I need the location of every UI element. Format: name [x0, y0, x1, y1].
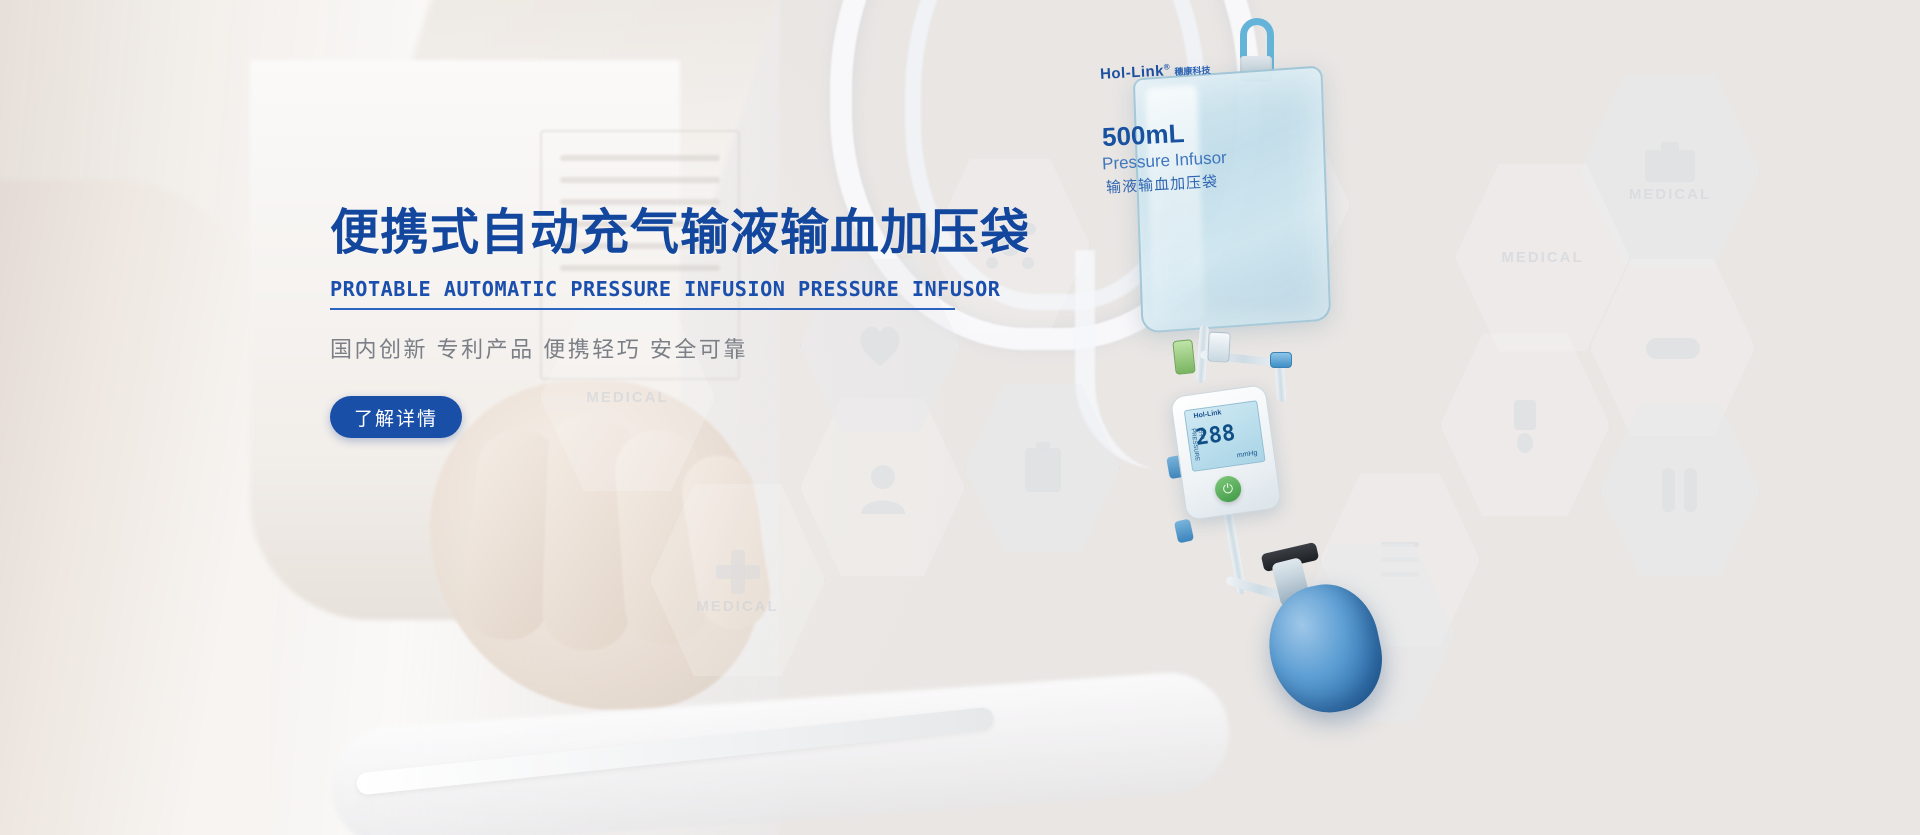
hero-banner: MEDICAL MEDICAL — [0, 0, 1920, 835]
monitor-screen: Hol-Link 压力 PRESSURE 288 mmHg — [1184, 400, 1266, 472]
watermark-hex-test-tubes — [1600, 400, 1760, 580]
product-image: Hol-Link®穗康科技 500mL Pressure Infusor 输液输… — [1080, 0, 1580, 835]
monitor-unit: mmHg — [1236, 450, 1257, 460]
bag-brand-text: Hol-Link — [1100, 63, 1165, 83]
tagline: 国内创新 专利产品 便携轻巧 安全可靠 — [330, 332, 1010, 364]
watermark-label: MEDICAL — [1629, 186, 1711, 203]
test-tubes-icon — [1654, 462, 1706, 518]
pressure-infusion-bag — [1133, 65, 1331, 333]
medical-kit-icon — [1641, 138, 1699, 186]
subheadline-wrap: PROTABLE AUTOMATIC PRESSURE INFUSION PRE… — [330, 277, 955, 310]
watermark-hex-cross: MEDICAL — [650, 480, 825, 680]
page-subtitle: PROTABLE AUTOMATIC PRESSURE INFUSION PRE… — [330, 277, 946, 301]
power-icon[interactable]: ⏻ — [1213, 474, 1242, 503]
doctor-avatar-icon — [859, 462, 907, 514]
monitor-reading: 288 — [1194, 421, 1237, 451]
blue-connector — [1270, 352, 1292, 368]
hero-content: 便携式自动充气输液输血加压袋 PROTABLE AUTOMATIC PRESSU… — [330, 205, 1010, 438]
pressure-monitor: Hol-Link 压力 PRESSURE 288 mmHg ⏻ — [1170, 384, 1282, 521]
watermark-label: MEDICAL — [696, 598, 778, 615]
learn-more-button[interactable]: 了解详情 — [330, 396, 462, 438]
bag-brand-cn: 穗康科技 — [1174, 65, 1210, 77]
page-title: 便携式自动充气输液输血加压袋 — [330, 205, 1010, 261]
cross-icon — [712, 546, 764, 598]
monitor-brand: Hol-Link — [1193, 409, 1222, 420]
green-valve — [1172, 339, 1195, 375]
roller-clamp — [1207, 331, 1231, 362]
capsule-icon — [1642, 328, 1704, 368]
registered-mark: ® — [1164, 62, 1171, 71]
clipboard-icon — [1021, 440, 1065, 496]
tube-clip-2 — [1174, 519, 1194, 544]
